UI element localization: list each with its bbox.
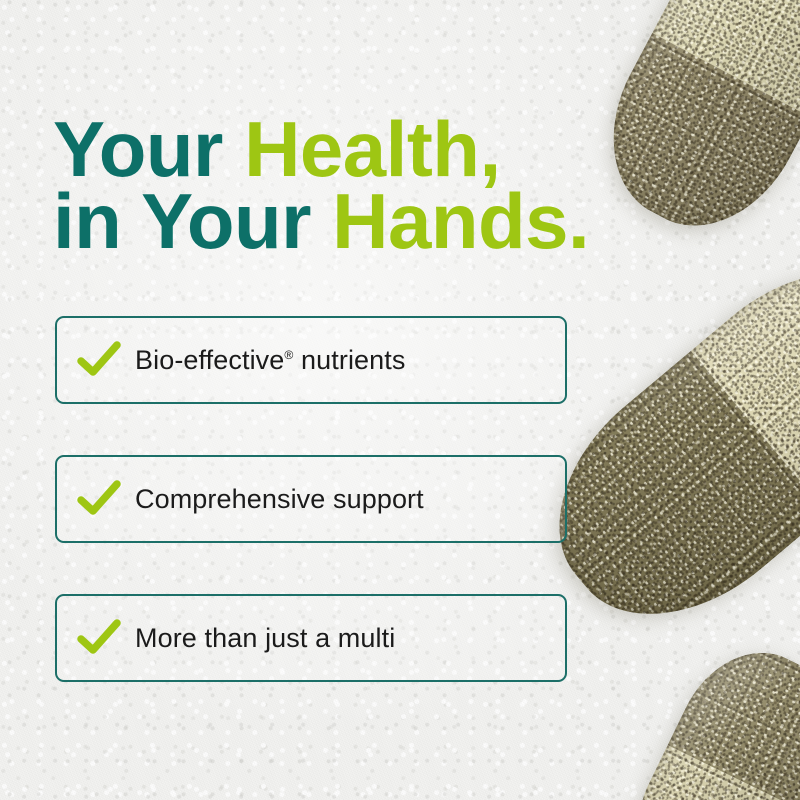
page-title: Your Health, in Your Hands. <box>53 114 653 258</box>
promotional-graphic: Your Health, in Your Hands. Bio-effectiv… <box>0 0 800 800</box>
headline-line-2: in Your Hands. <box>53 186 653 258</box>
checkmark-icon <box>57 340 135 380</box>
benefit-card-more-than-just-a-multi[interactable]: More than just a multi <box>55 594 567 682</box>
benefit-label-main: More than just a multi <box>135 623 395 653</box>
benefits-list: Bio-effective® nutrients Comprehensive s… <box>55 316 567 682</box>
benefit-label: Bio-effective® nutrients <box>135 345 406 376</box>
benefit-card-bio-effective-nutrients[interactable]: Bio-effective® nutrients <box>55 316 567 404</box>
benefit-label-main: Comprehensive support <box>135 484 424 514</box>
benefit-card-comprehensive-support[interactable]: Comprehensive support <box>55 455 567 543</box>
checkmark-icon <box>57 618 135 658</box>
headline-word-in-your: in Your <box>53 177 332 265</box>
benefit-label-main: Bio-effective <box>135 345 284 375</box>
benefit-label: More than just a multi <box>135 623 395 654</box>
headline-line-1: Your Health, <box>53 114 653 186</box>
benefit-label-tail: nutrients <box>293 345 405 375</box>
checkmark-icon <box>57 479 135 519</box>
benefit-label: Comprehensive support <box>135 484 424 515</box>
headline-word-hands: Hands. <box>332 177 589 265</box>
